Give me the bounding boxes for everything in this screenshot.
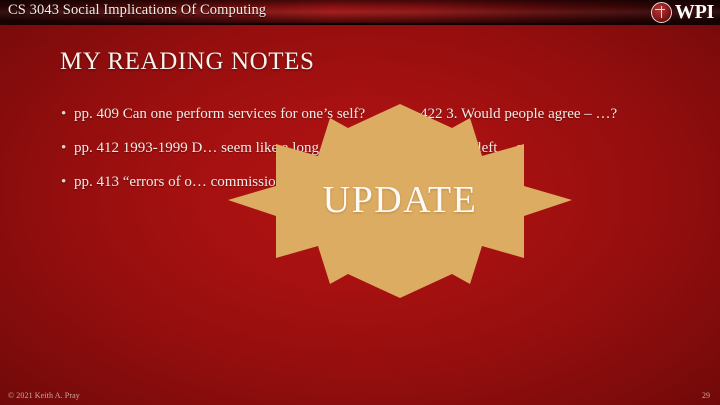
footer-copyright: © 2021 Keith A. Pray: [8, 391, 80, 400]
course-title: CS 3043 Social Implications Of Computing: [8, 2, 266, 19]
bullet-dot-icon: •: [61, 104, 66, 124]
update-starburst-shape: UPDATE: [224, 100, 576, 300]
footer-page-number: 29: [702, 391, 710, 400]
starburst-icon: [224, 100, 576, 300]
bullet-dot-icon: •: [61, 138, 66, 158]
wpi-seal-icon: [651, 2, 672, 23]
starburst-polygon: [228, 104, 572, 298]
slide-header-bar: CS 3043 Social Implications Of Computing…: [0, 0, 720, 25]
slide-canvas: CS 3043 Social Implications Of Computing…: [0, 0, 720, 405]
wpi-wordmark: WPI: [675, 1, 714, 24]
wpi-logo: WPI: [651, 1, 714, 24]
page-title: MY READING NOTES: [60, 48, 315, 76]
bullet-dot-icon: •: [61, 172, 66, 192]
